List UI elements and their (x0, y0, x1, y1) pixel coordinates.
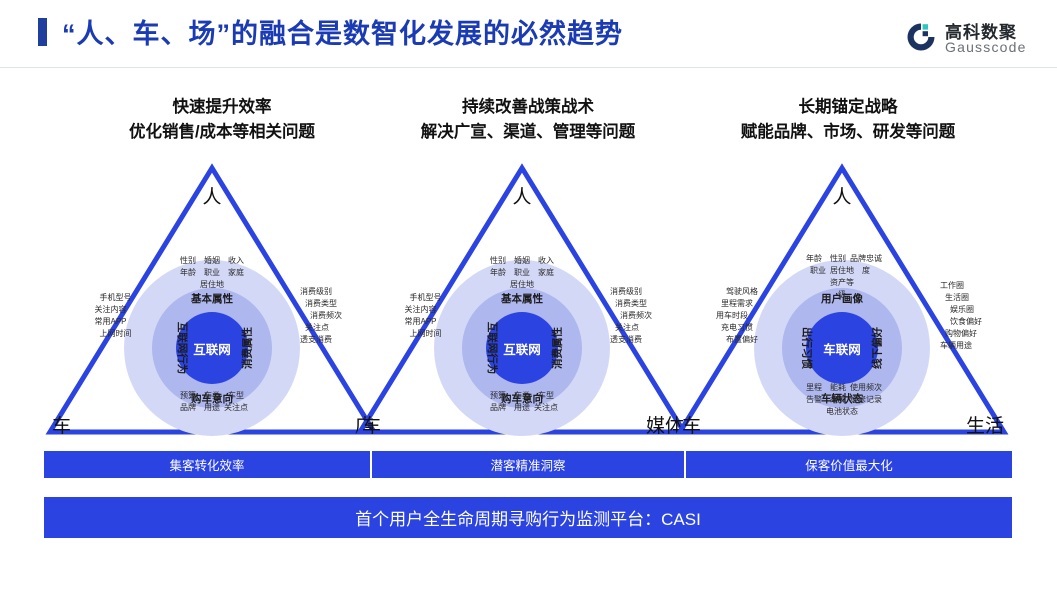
satellite-label: 车类 (200, 390, 224, 402)
satellite-label: 透支消费 (300, 334, 342, 346)
satellite-label: 消费频次 (310, 310, 342, 322)
page-title: “人、车、场”的融合是数智化发展的必然趋势 (62, 12, 623, 51)
logo-text-en: Gausscode (945, 39, 1027, 55)
satellite-label-row: 年龄职业家庭 (176, 267, 248, 279)
satellite-labels-left-1: 手机型号关注内容常用APP上网时间 (92, 292, 132, 340)
ring-mid-label-top-2: 基本属性 (501, 291, 543, 306)
triangle-diagram-2: 人 车 媒体 互联网 互联网 基本属性 购车意向 互联网行为 消费属性 性别婚姻… (352, 160, 692, 440)
summary-bar-2-label: 潜客精准洞察 (490, 455, 565, 474)
column-heading-2: 持续改善战策战术 解决广宣、渠道、管理等问题 (358, 95, 698, 145)
ring-mid-label-left-3: 出行习惯 (800, 327, 815, 369)
ring-mid-label-right-1: 消费属性 (240, 327, 255, 369)
triangle-diagram-3: 人 车 生活 车联网 车联网 用户画像 车辆状态 出行习惯 线下偏好 年龄性别品… (672, 160, 1012, 440)
satellite-label: 故障 (826, 394, 850, 406)
satellite-label-row: 年龄职业家庭 (486, 267, 558, 279)
ring-core-label-2: 互联网 (503, 339, 541, 358)
satellite-label: 资产等 (830, 277, 854, 289)
platform-banner[interactable]: 首个用户全生命周期寻购行为监测平台：CASI (44, 497, 1012, 538)
satellite-label: 关注内容 (405, 304, 442, 316)
satellite-label-row: 职业居住地度 (802, 265, 882, 277)
satellite-label: 车类 (510, 390, 534, 402)
ring-mid-label-left-1: 互联网行为 (175, 322, 190, 375)
satellite-label: 居住地 (200, 279, 224, 291)
ring-core-3: 车联网 (806, 312, 878, 384)
satellite-labels-bottom-3: 里程能耗使用频次告警故障维修记录电池状态 (802, 382, 882, 418)
satellite-label: 手机型号 (100, 292, 132, 304)
summary-bar-1-label: 集客转化效率 (169, 455, 244, 474)
satellite-label: 年龄 (802, 253, 826, 265)
satellite-label-row: 年龄性别品牌忠诚 (802, 253, 882, 265)
satellite-label: 度 (854, 265, 878, 277)
satellite-label: 工作圈 (940, 280, 982, 292)
satellite-label: 消费类型 (305, 298, 342, 310)
ring-core-label-3: 车联网 (823, 339, 861, 358)
satellite-label: 里程需求 (721, 298, 758, 310)
satellite-label: 性别 (486, 255, 510, 267)
ring-core-label-1: 互联网 (193, 339, 231, 358)
satellite-label: 驾驶风格 (726, 286, 758, 298)
satellite-label-row: 告警故障维修记录 (802, 394, 882, 406)
satellite-label: 车型 (534, 390, 558, 402)
satellite-label-row: 预算车类车型 (486, 390, 558, 402)
vertex-top-2: 人 (512, 182, 531, 209)
satellite-labels-left-2: 手机型号关注内容常用APP上网时间 (402, 292, 442, 340)
summary-bar-1[interactable]: 集客转化效率 (44, 451, 370, 478)
column-3-head-line2: 赋能品牌、市场、研发等问题 (678, 120, 1018, 145)
satellite-labels-top-2: 性别婚姻收入年龄职业家庭居住地 (486, 255, 558, 291)
satellite-label: 消费频次 (620, 310, 652, 322)
satellite-label: 关注点 (224, 402, 248, 414)
satellite-label: 用车时段 (716, 310, 758, 322)
ring-mid-label-right-3: 线下偏好 (870, 327, 885, 369)
triangle-diagram-1: 人 车 店 互联网 互联网 基本属性 购车意向 互联网行为 消费属性 性别婚姻收… (42, 160, 382, 440)
satellite-label: 常用APP (95, 316, 132, 328)
satellite-label: 车型 (224, 390, 248, 402)
satellite-label: 电池状态 (826, 406, 858, 418)
satellite-label: 预算 (486, 390, 510, 402)
satellite-label: 透支消费 (610, 334, 652, 346)
column-heading-3: 长期锚定战略 赋能品牌、市场、研发等问题 (678, 95, 1018, 145)
satellite-label-row: 性别婚姻收入 (176, 255, 248, 267)
page-header: “人、车、场”的融合是数智化发展的必然趋势 高科数聚 Gausscode (0, 0, 1057, 68)
satellite-label: 手机型号 (410, 292, 442, 304)
satellite-label-row: 性别婚姻收入 (486, 255, 558, 267)
satellite-label: 娱乐圈 (950, 304, 982, 316)
header-divider (0, 67, 1057, 68)
satellite-label-row: 居住地 (486, 279, 558, 291)
satellite-label: 职业 (806, 265, 830, 277)
satellite-label-row: 级 (802, 289, 882, 301)
summary-bar-3-label: 保客价值最大化 (805, 455, 893, 474)
satellite-labels-top-1: 性别婚姻收入年龄职业家庭居住地 (176, 255, 248, 291)
satellite-label: 家庭 (224, 267, 248, 279)
column-1-head-line2: 优化销售/成本等相关问题 (52, 120, 392, 145)
satellite-label: 生活圈 (945, 292, 982, 304)
satellite-label: 用途 (200, 402, 224, 414)
satellite-label: 婚姻 (200, 255, 224, 267)
satellite-label: 级 (830, 289, 854, 301)
satellite-labels-right-2: 消费级别消费类型消费频次关注点透支消费 (620, 286, 652, 346)
satellite-label-row: 电池状态 (802, 406, 882, 418)
satellite-label: 使用频次 (850, 382, 882, 394)
satellite-label: 购物偏好 (945, 328, 982, 340)
satellite-label: 收入 (224, 255, 248, 267)
satellite-label: 关注点 (305, 322, 342, 334)
satellite-label-row: 预算车类车型 (176, 390, 248, 402)
satellite-label: 告警 (802, 394, 826, 406)
satellite-label: 年龄 (486, 267, 510, 279)
vertex-top-1: 人 (202, 182, 221, 209)
satellite-label: 预算 (176, 390, 200, 402)
satellite-label: 能耗 (826, 382, 850, 394)
vertex-left-3: 车 (682, 411, 701, 438)
vertex-right-3: 生活 (966, 411, 1004, 438)
column-3-head-line1: 长期锚定战略 (678, 95, 1018, 120)
column-heading-1: 快速提升效率 优化销售/成本等相关问题 (52, 95, 392, 145)
column-2-head-line2: 解决广宣、渠道、管理等问题 (358, 120, 698, 145)
satellite-label: 车辆用途 (940, 340, 982, 352)
satellite-labels-top-3: 年龄性别品牌忠诚职业居住地度资产等级 (802, 253, 882, 301)
satellite-label: 收入 (534, 255, 558, 267)
satellite-label: 关注点 (615, 322, 652, 334)
satellite-label-row: 里程能耗使用频次 (802, 382, 882, 394)
ring-mid-label-left-2: 互联网行为 (485, 322, 500, 375)
satellite-label: 职业 (510, 267, 534, 279)
satellite-label: 布置偏好 (726, 334, 758, 346)
satellite-label: 职业 (200, 267, 224, 279)
satellite-label-row: 资产等 (802, 277, 882, 289)
summary-bar-3[interactable]: 保客价值最大化 (686, 451, 1012, 478)
satellite-label: 婚姻 (510, 255, 534, 267)
satellite-label: 性别 (826, 253, 850, 265)
satellite-label: 品牌 (176, 402, 200, 414)
satellite-label: 性别 (176, 255, 200, 267)
satellite-label: 用途 (510, 402, 534, 414)
column-1-head-line1: 快速提升效率 (52, 95, 392, 120)
satellite-label: 饮食偏好 (950, 316, 982, 328)
satellite-label: 常用APP (405, 316, 442, 328)
satellite-labels-left-3: 驾驶风格里程需求用车时段充电习惯布置偏好 (716, 286, 758, 346)
satellite-label-row: 品牌用途关注点 (176, 402, 248, 414)
satellite-label: 里程 (802, 382, 826, 394)
satellite-label: 品牌忠诚 (850, 253, 882, 265)
satellite-labels-bottom-1: 预算车类车型品牌用途关注点 (176, 390, 248, 414)
vertex-left-2: 车 (362, 411, 381, 438)
satellite-label: 消费级别 (300, 286, 342, 298)
satellite-label: 品牌 (486, 402, 510, 414)
satellite-label: 家庭 (534, 267, 558, 279)
vertex-left-1: 车 (52, 411, 71, 438)
satellite-label: 充电习惯 (721, 322, 758, 334)
satellite-labels-right-1: 消费级别消费类型消费频次关注点透支消费 (310, 286, 342, 346)
title-accent-bar (38, 18, 47, 46)
ring-mid-label-top-1: 基本属性 (191, 291, 233, 306)
satellite-label: 关注内容 (95, 304, 132, 316)
satellite-label: 年龄 (176, 267, 200, 279)
gausscode-logo-icon (905, 21, 937, 53)
satellite-label: 居住地 (830, 265, 854, 277)
satellite-label: 关注点 (534, 402, 558, 414)
satellite-label: 居住地 (510, 279, 534, 291)
satellite-label: 上网时间 (100, 328, 132, 340)
brand-logo: 高科数聚 Gausscode (905, 18, 1040, 60)
satellite-label: 上网时间 (410, 328, 442, 340)
satellite-label: 消费级别 (610, 286, 652, 298)
platform-banner-label: 首个用户全生命周期寻购行为监测平台：CASI (355, 505, 701, 530)
satellite-label-row: 品牌用途关注点 (486, 402, 558, 414)
satellite-label-row: 居住地 (176, 279, 248, 291)
column-2-head-line1: 持续改善战策战术 (358, 95, 698, 120)
satellite-labels-right-3: 工作圈生活圈娱乐圈饮食偏好购物偏好车辆用途 (953, 280, 983, 352)
vertex-top-3: 人 (832, 182, 851, 209)
satellite-label: 维修记录 (850, 394, 882, 406)
satellite-labels-bottom-2: 预算车类车型品牌用途关注点 (486, 390, 558, 414)
summary-bar-2[interactable]: 潜客精准洞察 (372, 451, 684, 478)
ring-mid-label-right-2: 消费属性 (550, 327, 565, 369)
satellite-label: 消费类型 (615, 298, 652, 310)
